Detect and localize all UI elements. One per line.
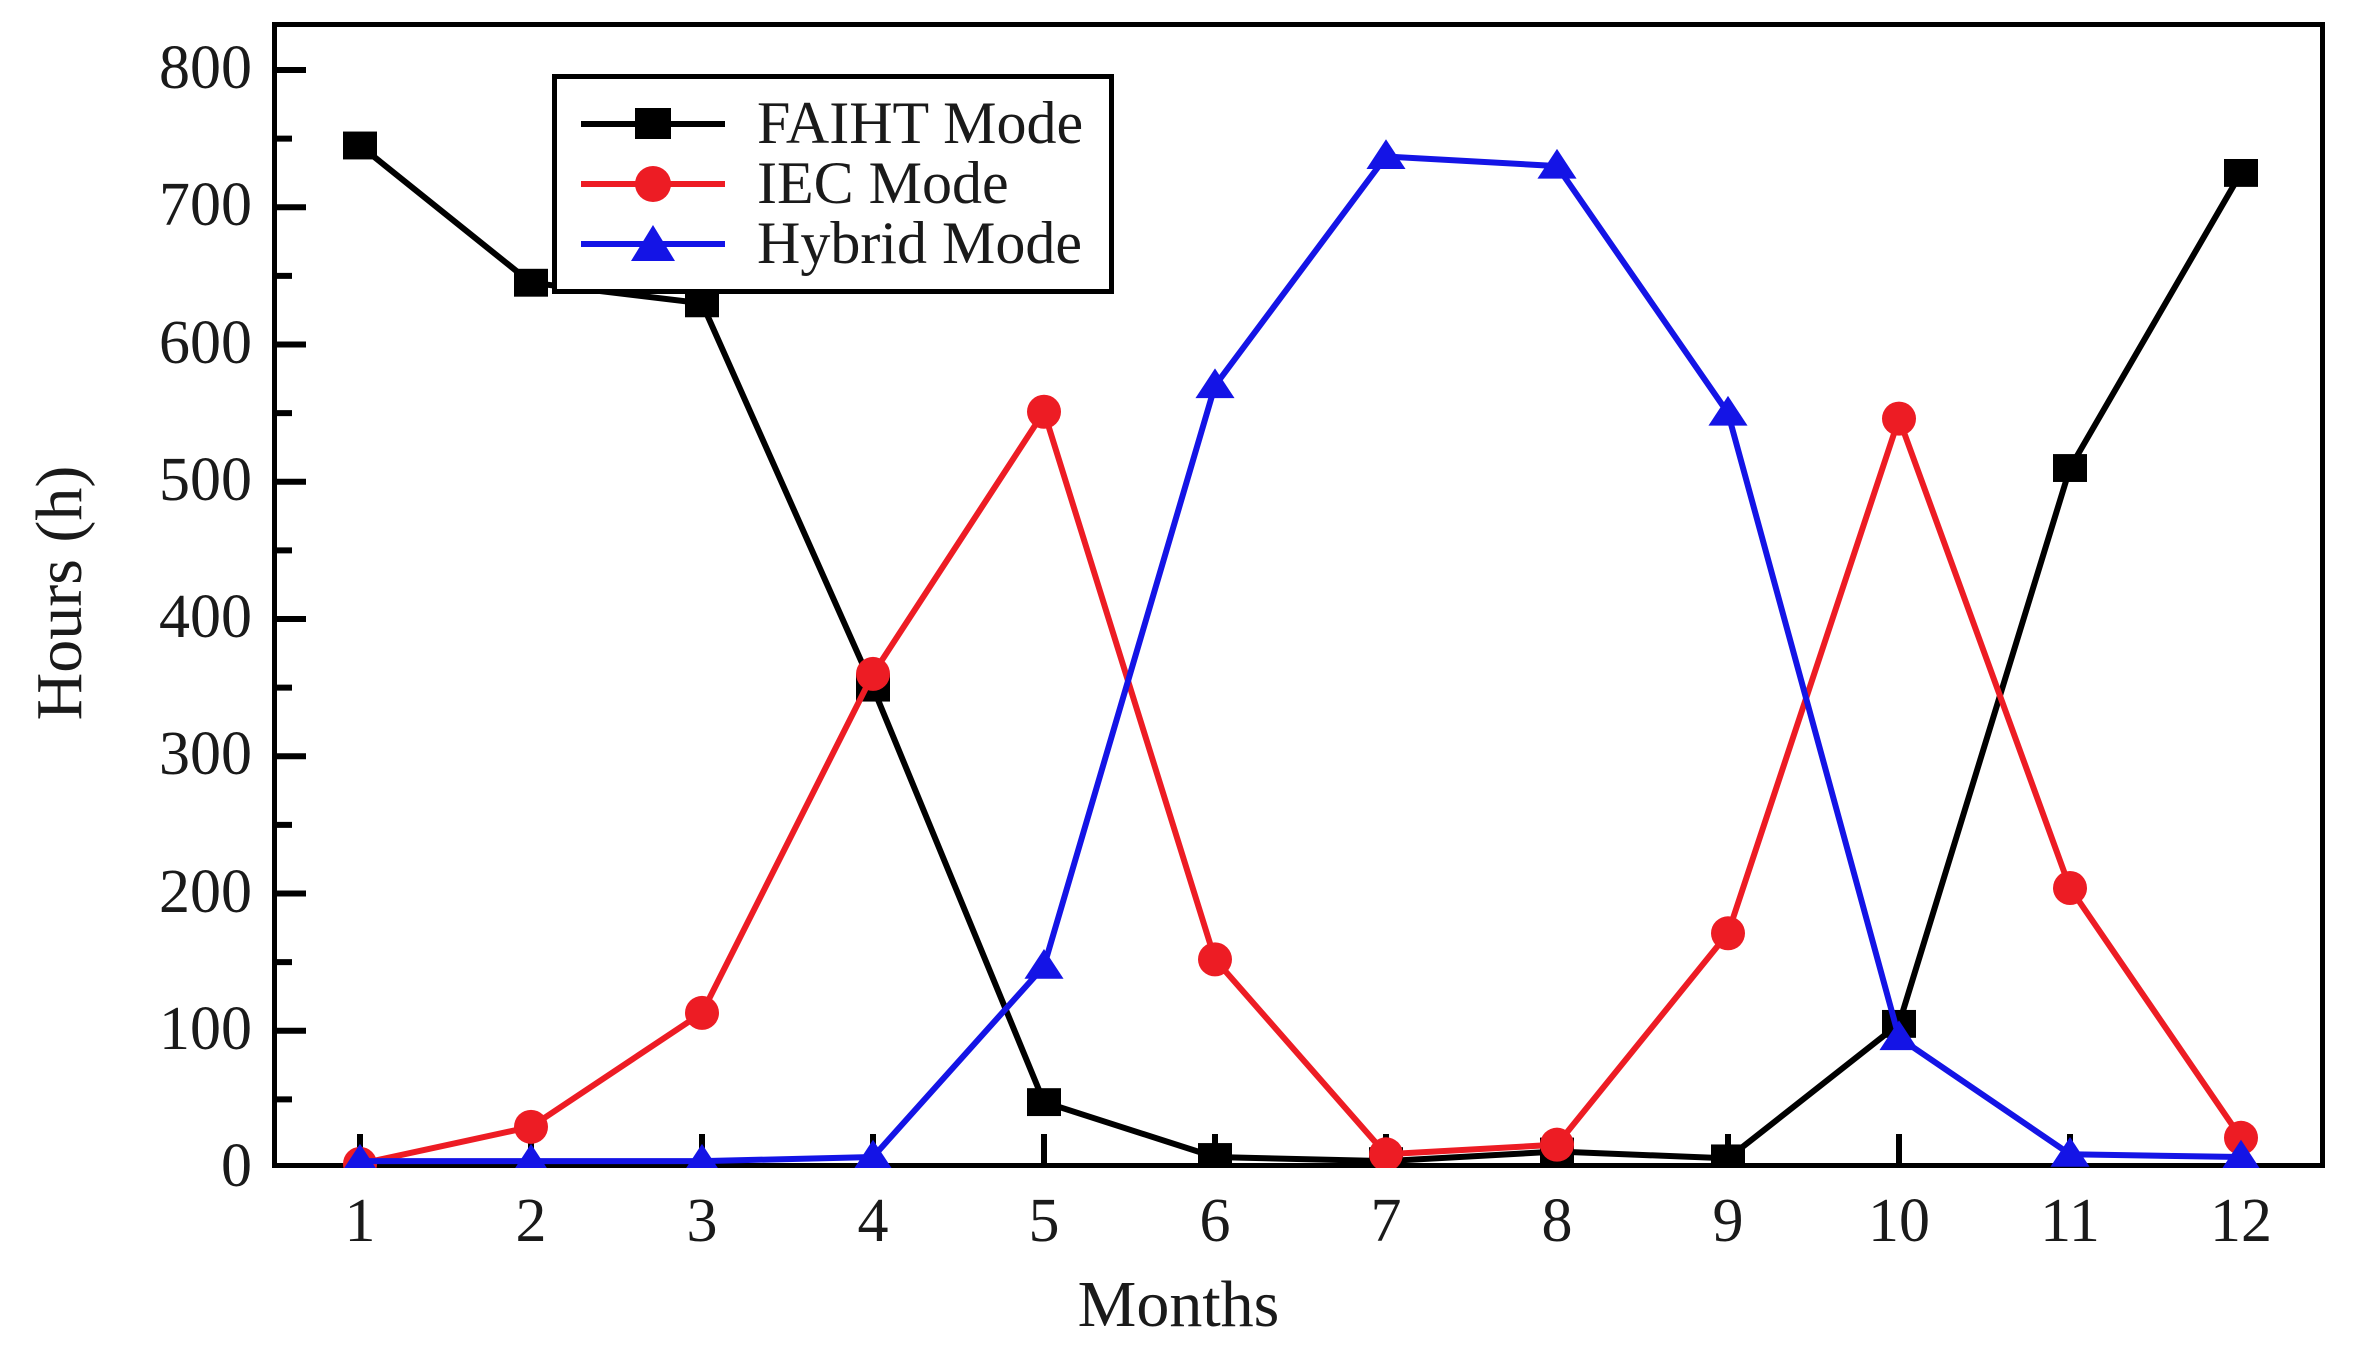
data-point-marker: [1027, 1088, 1061, 1116]
x-tick-label: 11: [2040, 1190, 2100, 1252]
chart-figure: 0100200300400500600700800 Hours (h) 1234…: [0, 0, 2357, 1357]
data-point-marker: [2053, 871, 2087, 905]
data-point-marker: [1024, 949, 1063, 979]
data-point-marker: [1711, 916, 1745, 950]
y-tick-label: 200: [159, 861, 252, 923]
x-tick-label: 7: [1371, 1190, 1402, 1252]
legend-item-faiht-mode[interactable]: FAIHT Mode: [579, 93, 1083, 153]
data-point-marker: [514, 1110, 548, 1144]
x-tick-label: 9: [1713, 1190, 1744, 1252]
data-point-marker: [1198, 1143, 1232, 1168]
x-tick-label: 6: [1200, 1190, 1231, 1252]
legend-marker-circle-icon: [579, 160, 727, 206]
data-point-marker: [511, 1144, 550, 1168]
y-tick-label: 500: [159, 449, 252, 511]
data-point-marker: [685, 996, 719, 1030]
x-tick-label: 12: [2210, 1190, 2272, 1252]
data-point-marker: [1540, 1128, 1574, 1162]
x-tick-label: 8: [1542, 1190, 1573, 1252]
x-tick-label: 4: [858, 1190, 889, 1252]
data-point-marker: [1198, 942, 1232, 976]
data-point-marker: [1882, 402, 1916, 436]
y-tick-label: 600: [159, 312, 252, 374]
data-point-marker: [343, 132, 377, 160]
chart-legend: FAIHT ModeIEC ModeHybrid Mode: [552, 74, 1114, 294]
x-tick-label: 1: [345, 1190, 376, 1252]
data-point-marker: [856, 657, 890, 691]
legend-item-label: FAIHT Mode: [757, 93, 1083, 153]
x-tick-label: 5: [1029, 1190, 1060, 1252]
y-tick-label: 300: [159, 723, 252, 785]
series-line: [360, 412, 2241, 1164]
legend-item-label: Hybrid Mode: [757, 213, 1082, 273]
y-tick-label: 800: [159, 37, 252, 99]
legend-item-label: IEC Mode: [757, 153, 1009, 213]
legend-marker-triangle-icon: [579, 220, 727, 266]
data-point-marker: [1711, 1144, 1745, 1168]
series-line: [360, 156, 2241, 1161]
y-tick-label: 100: [159, 998, 252, 1060]
data-point-marker: [1027, 395, 1061, 429]
legend-item-hybrid-mode[interactable]: Hybrid Mode: [579, 213, 1083, 273]
y-axis-title: Hours (h): [27, 403, 93, 783]
data-point-marker: [1708, 396, 1747, 426]
y-tick-label: 0: [221, 1135, 252, 1197]
data-point-marker: [2224, 159, 2258, 187]
legend-marker-square-icon: [579, 100, 727, 146]
data-point-marker: [1366, 139, 1405, 169]
legend-item-iec-mode[interactable]: IEC Mode: [579, 153, 1083, 213]
x-tick-label: 3: [687, 1190, 718, 1252]
data-point-marker: [682, 1144, 721, 1168]
x-axis-tick-labels: 123456789101112: [0, 1190, 2357, 1280]
y-tick-label: 400: [159, 586, 252, 648]
data-point-marker: [514, 269, 548, 297]
y-tick-label: 700: [159, 174, 252, 236]
data-point-marker: [2053, 454, 2087, 482]
data-point-marker: [1195, 368, 1234, 398]
x-axis-title: Months: [0, 1272, 2357, 1338]
series-line: [360, 145, 2241, 1161]
x-tick-label: 2: [516, 1190, 547, 1252]
x-tick-label: 10: [1868, 1190, 1930, 1252]
